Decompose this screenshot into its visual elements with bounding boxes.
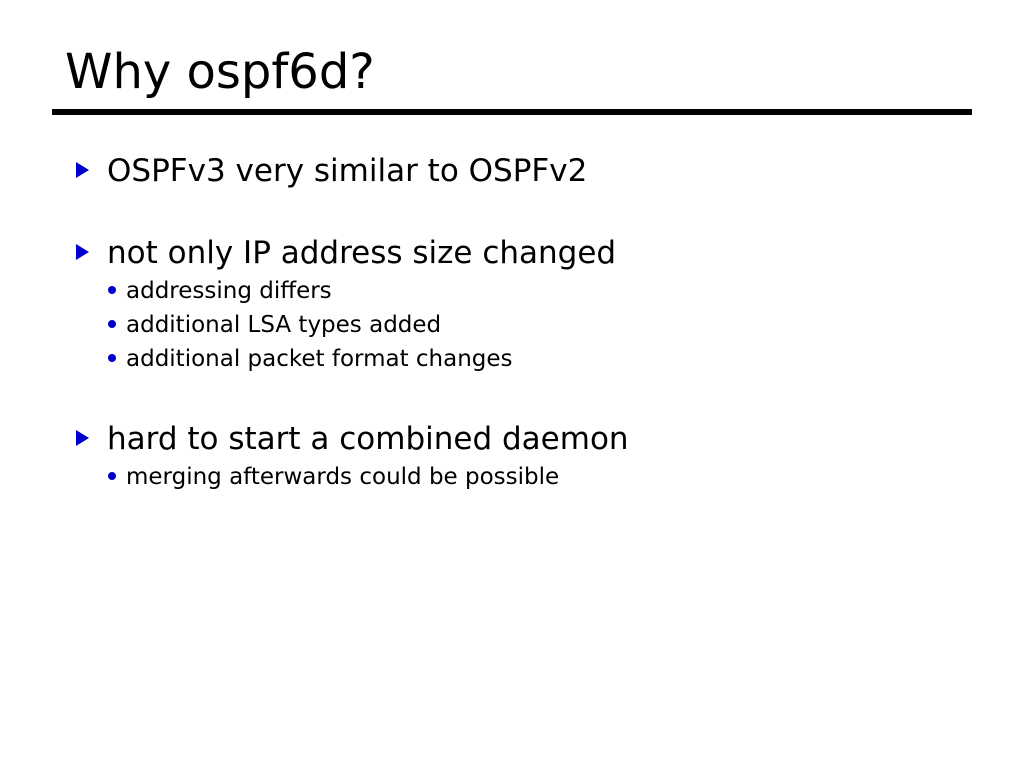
triangle-right-icon [76,162,92,176]
presentation-slide: Why ospf6d? OSPFv3 very similar to OSPFv… [0,0,1024,768]
outline-level2-label: additional LSA types added [126,308,441,342]
outline-level2-label: addressing differs [126,274,332,308]
outline-level2-label: merging afterwards could be possible [126,460,559,494]
outline-level2-item: additional LSA types added [52,308,972,342]
outline-group: not only IP address size changed address… [52,234,972,376]
bullet-dot-icon [108,354,117,362]
outline-level1-item: hard to start a combined daemon [52,420,972,458]
outline-level2-list: merging afterwards could be possible [52,460,972,494]
outline-group: hard to start a combined daemon merging … [52,420,972,494]
outline-group: OSPFv3 very similar to OSPFv2 [52,152,972,190]
outline-level2-item: addressing differs [52,274,972,308]
bullet-dot-icon [108,472,117,480]
outline-level2-item: additional packet format changes [52,342,972,376]
outline-level1-label: OSPFv3 very similar to OSPFv2 [107,152,587,190]
outline-level1-item: not only IP address size changed [52,234,972,272]
bullet-dot-icon [108,286,117,294]
outline-level2-label: additional packet format changes [126,342,513,376]
outline-level1-label: hard to start a combined daemon [107,420,629,458]
outline-level2-item: merging afterwards could be possible [52,460,972,494]
outline-level1-label: not only IP address size changed [107,234,616,272]
bullet-dot-icon [108,320,117,328]
slide-body-outline: OSPFv3 very similar to OSPFv2 not only I… [52,152,972,494]
slide-title-block: Why ospf6d? [52,44,972,115]
outline-level1-item: OSPFv3 very similar to OSPFv2 [52,152,972,190]
triangle-right-icon [76,430,92,444]
triangle-right-icon [76,244,92,258]
page-title: Why ospf6d? [52,44,972,100]
title-divider [52,109,972,115]
outline-level2-list: addressing differs additional LSA types … [52,274,972,376]
